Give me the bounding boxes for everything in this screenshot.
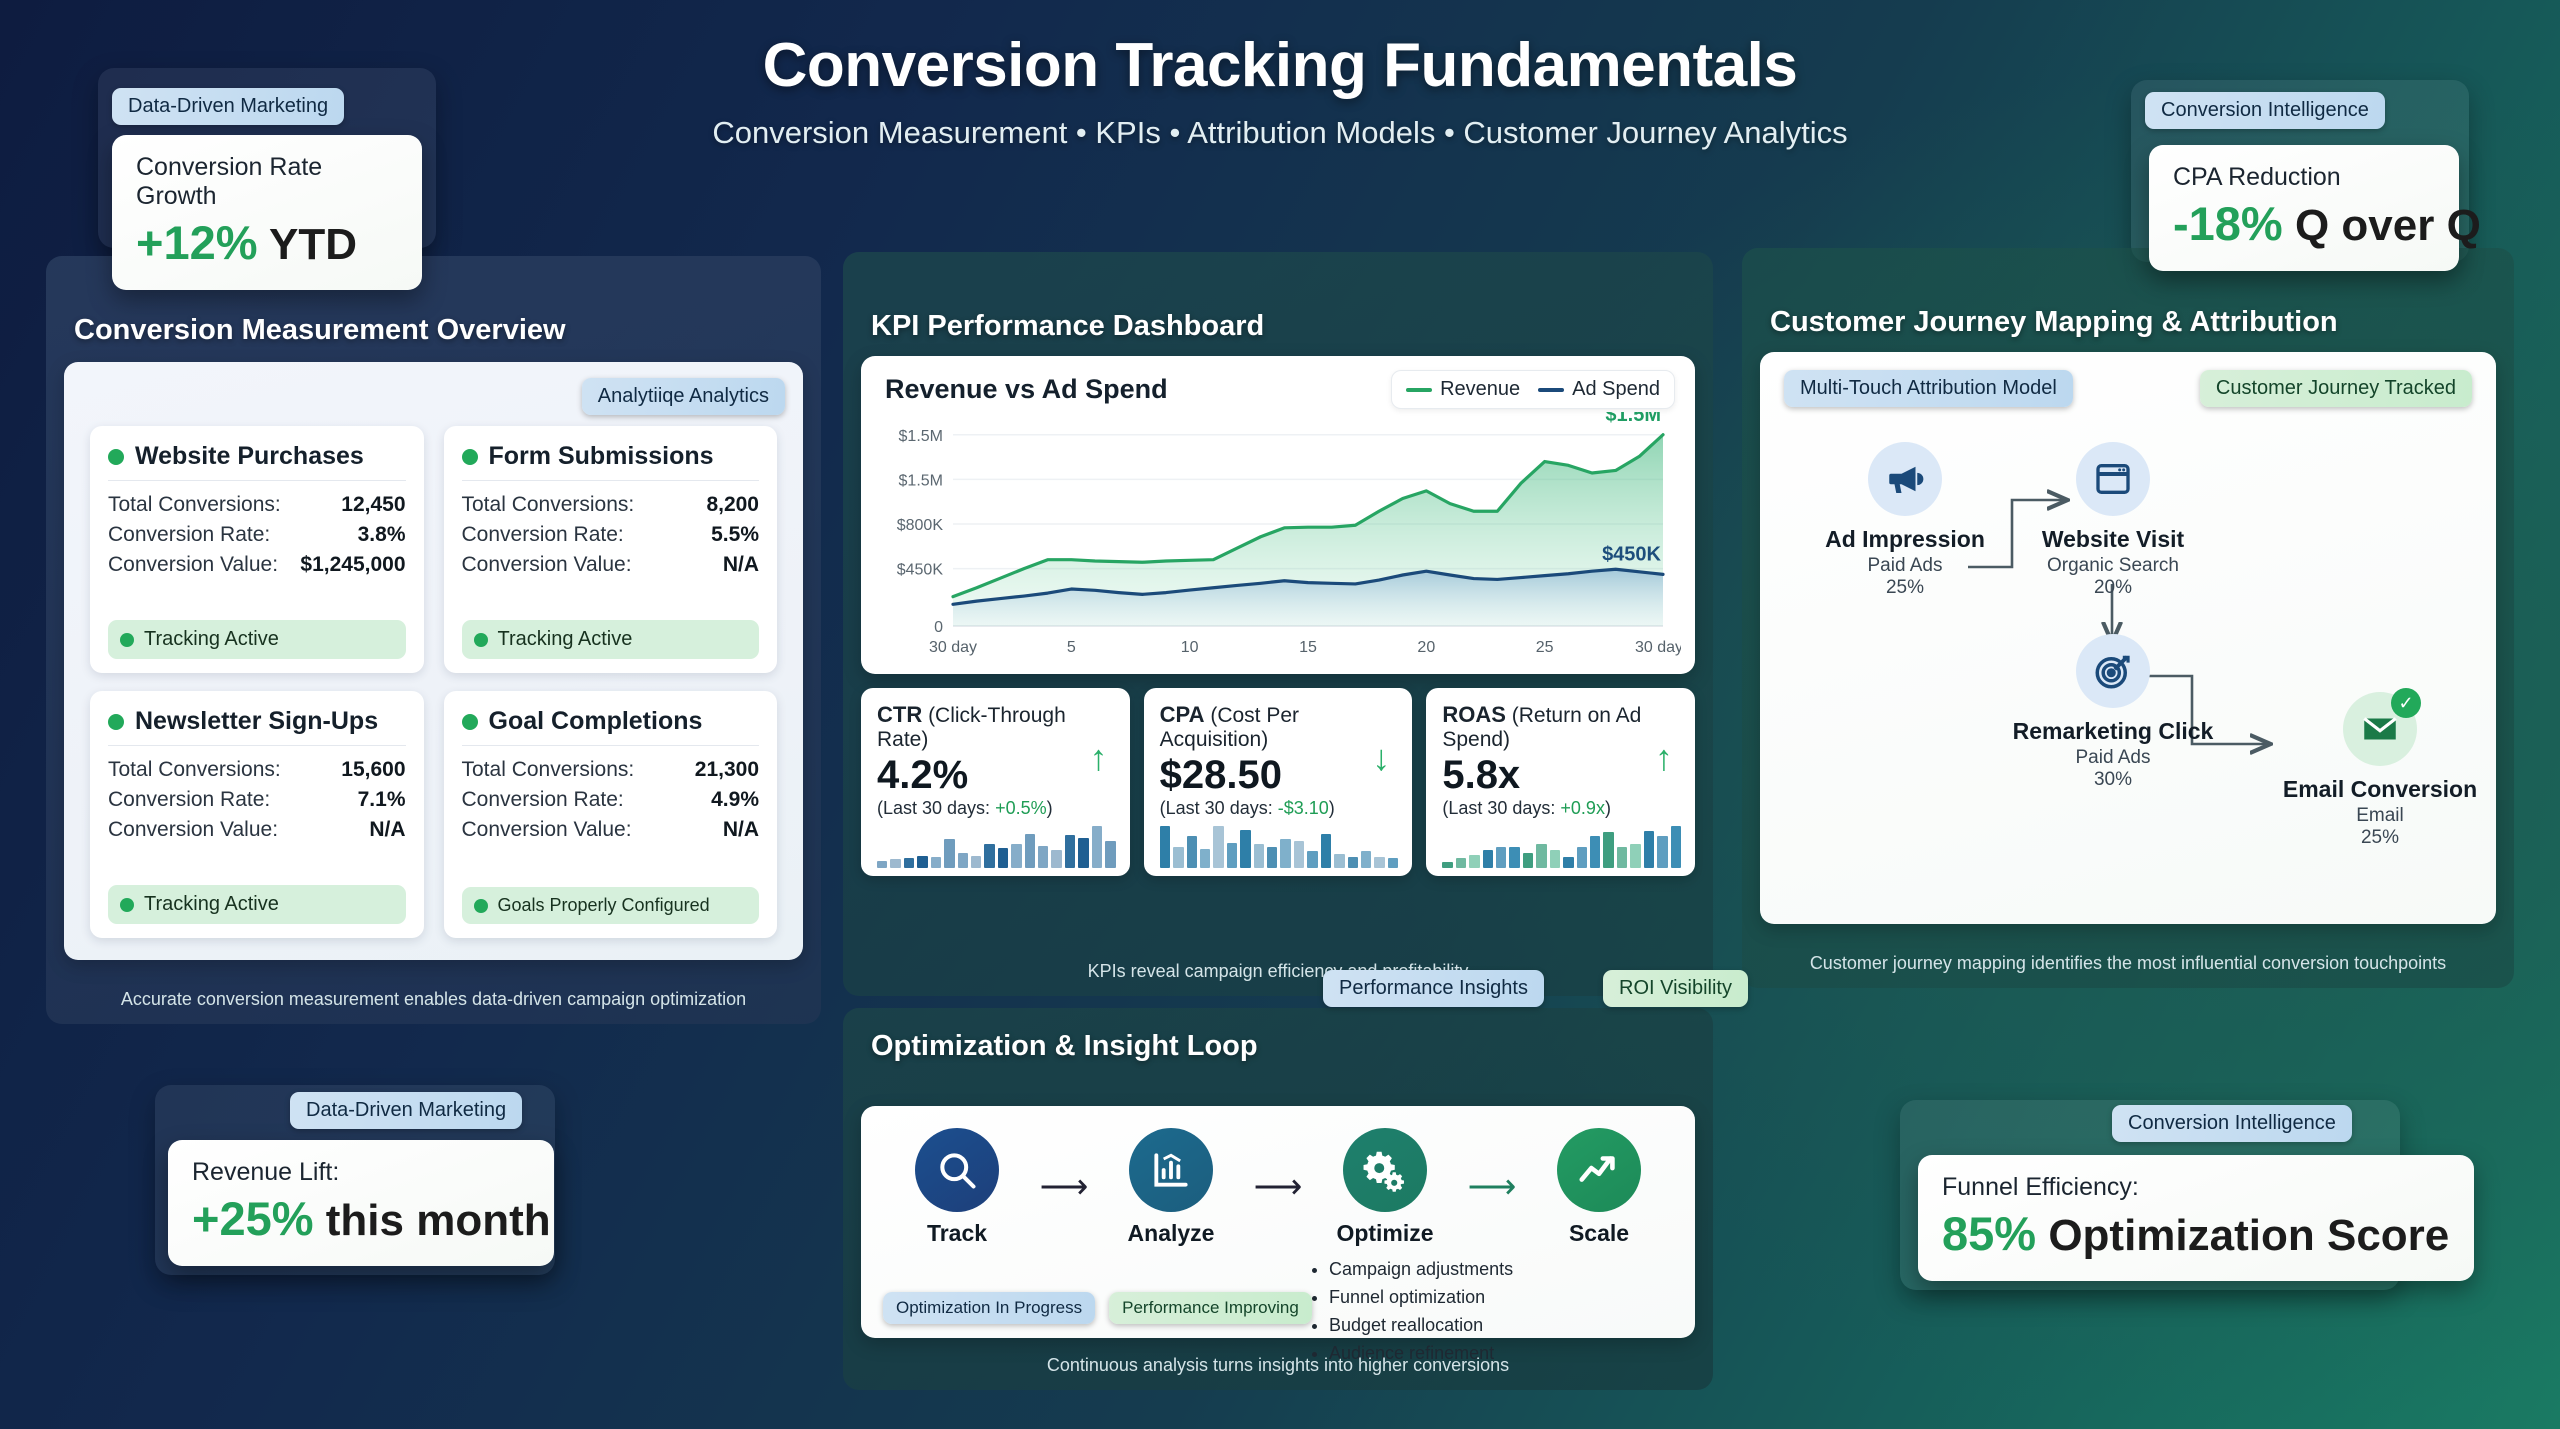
row-label: Total Conversions: [108,758,281,782]
kpi-card: CPA (Cost Per Acquisition)$28.50(Last 30… [1144,688,1413,876]
spark-bar [890,859,900,868]
legend-item-revenue: Revenue [1406,378,1520,401]
journey-node-email-conversion: ✓ Email Conversion Email 25% [2265,692,2495,849]
row-total: Total Conversions:8,200 [462,493,760,517]
svg-text:5: 5 [1067,639,1076,656]
search-icon [915,1128,999,1212]
row-label: Total Conversions: [462,758,635,782]
spark-bar [1657,836,1667,868]
optimization-bullet-list: Campaign adjustmentsFunnel optimizationB… [1311,1256,1513,1368]
panel-footer: KPIs reveal campaign efficiency and prof… [843,961,1713,982]
spark-bar [1105,841,1115,868]
spark-bar [1267,847,1277,868]
badge-value-suffix: Optimization Score [2048,1211,2449,1260]
row-label: Conversion Rate: [462,788,624,812]
panel-footer: Accurate conversion measurement enables … [46,989,821,1010]
arrow-right-icon: ⟶ [1254,1170,1303,1204]
status-dot-icon [462,449,478,465]
journey-node-ad-impression: Ad Impression Paid Ads 25% [1790,442,2020,599]
row-label: Conversion Rate: [108,788,270,812]
svg-text:$450K: $450K [897,562,944,579]
spark-bar [1051,850,1061,868]
svg-text:$1.5M: $1.5M [899,428,943,445]
journey-node-website-visit: Website Visit Organic Search 20% [1998,442,2228,599]
row-value: 8,200 [706,493,759,517]
node-share: 25% [2265,827,2495,849]
status-label: Tracking Active [144,628,279,651]
loop-step-label: Track [891,1220,1023,1247]
svg-text:$800K: $800K [897,517,944,534]
kpi-delta: (Last 30 days: -$3.10) [1160,798,1397,819]
spark-bar [1025,834,1035,868]
status-dot-icon [474,633,488,647]
node-title: Email Conversion [2265,776,2495,803]
trend-arrow-icon: ↓ [1372,740,1390,776]
node-share: 25% [1790,577,2020,599]
card-header: Website Purchases [108,442,406,471]
loop-step-analyze: Analyze [1105,1128,1237,1247]
badge-chip-data-driven-marketing: Data-Driven Marketing [290,1092,522,1129]
row-label: Conversion Rate: [108,523,270,547]
trend-arrow-icon: ↑ [1090,740,1108,776]
chip-multi-touch-attribution: Multi-Touch Attribution Model [1784,370,2073,407]
row-value: 21,300 [695,758,759,782]
conversion-card: Website PurchasesTotal Conversions:12,45… [90,426,424,673]
arrow-right-icon: ⟶ [1040,1170,1089,1204]
spark-bar [1496,847,1506,868]
status-label: Tracking Active [144,893,279,916]
kpi-value: 5.8x [1442,754,1679,796]
kpi-performance-panel: KPI Performance Dashboard Revenue vs Ad … [843,252,1713,996]
badge-value: -18% Q over Q [2173,196,2435,251]
loop-step-label: Analyze [1105,1220,1237,1247]
node-title: Ad Impression [1790,526,2020,553]
kpi-name: CPA (Cost Per Acquisition) [1160,702,1397,752]
badge-stat-box: Revenue Lift: +25% this month [168,1140,554,1266]
badge-value-number: +12% [136,216,258,269]
spark-bar [1644,831,1654,868]
card-title: Goal Completions [489,707,703,736]
badge-value-number: -18% [2173,197,2283,250]
trending-up-icon [1557,1128,1641,1212]
badge-stat-box: Conversion Rate Growth +12% YTD [112,135,422,290]
legend-label-revenue: Revenue [1440,378,1520,401]
conversion-card: Newsletter Sign-UpsTotal Conversions:15,… [90,691,424,938]
spark-bar [1483,850,1493,868]
status-dot-icon [108,714,124,730]
legend-item-ad-spend: Ad Spend [1538,378,1660,401]
spark-bar [984,844,994,868]
divider [462,480,760,481]
spark-bar [998,848,1008,868]
badge-value: +12% YTD [136,215,398,270]
node-share: 20% [1998,577,2228,599]
spark-bar [904,858,914,868]
status-dot-icon [120,898,134,912]
row-rate: Conversion Rate:3.8% [108,523,406,547]
row-label: Conversion Value: [462,818,632,842]
row-value-amount: Conversion Value:$1,245,000 [108,553,406,577]
panel-footer: Continuous analysis turns insights into … [843,1355,1713,1376]
kpi-sparkline [877,824,1116,868]
loop-steps: Track ⟶ Analyze ⟶ Optimize ⟶ [891,1124,1665,1250]
spark-bar [1509,847,1519,868]
node-source: Paid Ads [1998,747,2228,769]
infographic-root: Conversion Tracking Fundamentals Convers… [0,0,2560,1429]
spark-bar [1442,862,1452,868]
row-label: Conversion Value: [108,553,278,577]
trend-arrow-icon: ↑ [1655,740,1673,776]
spark-bar [1078,838,1088,868]
spark-bar [1361,851,1371,868]
spark-bar [1388,858,1398,868]
spark-bar [1523,853,1533,868]
spark-bar [1550,850,1560,868]
chip-performance-insights: Performance Insights [1323,970,1544,1007]
badge-label: Revenue Lift: [192,1158,530,1187]
spark-bar [1617,847,1627,868]
row-label: Conversion Value: [462,553,632,577]
bar-chart-icon [1129,1128,1213,1212]
node-source: Paid Ads [1790,555,2020,577]
panel-title: KPI Performance Dashboard [871,310,1264,343]
spark-bar [1563,857,1573,868]
svg-text:25: 25 [1536,639,1554,656]
journey-node-remarketing-click: Remarketing Click Paid Ads 30% [1998,634,2228,791]
browser-icon [2076,442,2150,516]
row-rate: Conversion Rate:7.1% [108,788,406,812]
spark-bar [931,857,941,868]
row-label: Conversion Value: [108,818,278,842]
panel-footer: Customer journey mapping identifies the … [1742,953,2514,974]
row-value-amount: Conversion Value:N/A [108,818,406,842]
svg-text:$1.5M: $1.5M [899,472,943,489]
badge-label: CPA Reduction [2173,163,2435,192]
card-header: Newsletter Sign-Ups [108,707,406,736]
spark-bar [1187,836,1197,868]
row-value: 15,600 [341,758,405,782]
status-badge: Tracking Active [108,885,406,924]
node-title: Website Visit [1998,526,2228,553]
kpi-name: CTR (Click-Through Rate) [877,702,1114,752]
badge-value-number: +25% [192,1192,314,1245]
megaphone-icon [1868,442,1942,516]
bullet-item: Budget reallocation [1329,1312,1513,1340]
row-total: Total Conversions:15,600 [108,758,406,782]
spark-bar [1348,857,1358,868]
spark-bar [1603,832,1613,868]
row-value: 4.9% [711,788,759,812]
row-rate: Conversion Rate:5.5% [462,523,760,547]
spark-bar [1294,841,1304,868]
chip-customer-journey-tracked: Customer Journey Tracked [2200,370,2472,407]
badge-value: +25% this month [192,1191,530,1246]
status-label: Tracking Active [498,628,633,651]
row-total: Total Conversions:21,300 [462,758,760,782]
loop-step-label: Scale [1533,1220,1665,1247]
badge-value-suffix: YTD [269,220,357,269]
arrow-right-icon: ⟶ [1468,1170,1517,1204]
optimization-loop-panel: Optimization & Insight Loop Track ⟶ Anal… [843,1008,1713,1390]
spark-bar [1334,854,1344,868]
spark-bar [1577,847,1587,868]
spark-bar [1469,855,1479,868]
status-dot-icon [108,449,124,465]
chart-legend: Revenue Ad Spend [1391,370,1675,409]
row-value: N/A [723,818,759,842]
node-source: Organic Search [1998,555,2228,577]
node-title: Remarketing Click [1998,718,2228,745]
spark-bar [1227,843,1237,868]
conversion-card: Goal CompletionsTotal Conversions:21,300… [444,691,778,938]
svg-text:30 day: 30 day [929,639,977,656]
kpi-delta: (Last 30 days: +0.5%) [877,798,1114,819]
chart-title: Revenue vs Ad Spend [885,374,1168,405]
row-rate: Conversion Rate:4.9% [462,788,760,812]
card-title: Website Purchases [135,442,364,471]
status-badge: Tracking Active [462,620,760,659]
gears-icon [1343,1128,1427,1212]
spark-bar [1065,835,1075,868]
loop-step-scale: Scale [1533,1128,1665,1247]
chip-performance-improving: Performance Improving [1109,1292,1312,1324]
target-icon [2076,634,2150,708]
spark-bar [877,861,887,868]
row-value: N/A [369,818,405,842]
badge-label: Funnel Efficiency: [1942,1173,2450,1202]
card-title: Newsletter Sign-Ups [135,707,378,736]
row-label: Total Conversions: [108,493,281,517]
spark-bar [1307,851,1317,868]
spark-bar [1038,846,1048,868]
spark-bar [1011,844,1021,868]
card-header: Form Submissions [462,442,760,471]
row-value-amount: Conversion Value:N/A [462,553,760,577]
conversion-card-grid: Website PurchasesTotal Conversions:12,45… [90,426,777,938]
svg-text:$450K: $450K [1602,543,1661,565]
spark-bar [1321,834,1331,868]
spark-bar [1280,839,1290,868]
spark-bar [1173,847,1183,868]
spark-bar [958,853,968,868]
divider [462,745,760,746]
spark-bar [1254,844,1264,868]
status-badge: Goals Properly Configured [462,887,760,924]
row-value: 7.1% [358,788,406,812]
legend-swatch-ad-spend [1538,388,1564,392]
badge-chip-data-driven-marketing: Data-Driven Marketing [112,88,344,125]
chip-optimization-in-progress: Optimization In Progress [883,1292,1095,1324]
revenue-vs-ad-spend-chart-card: Revenue vs Ad Spend Revenue Ad Spend 0$4… [861,356,1695,674]
badge-chip-conversion-intelligence: Conversion Intelligence [2145,92,2385,129]
spark-bar [1213,826,1223,868]
row-label: Total Conversions: [462,493,635,517]
brand-chip-analytics: Analytiiqe Analytics [582,378,785,415]
optimization-chips: Optimization In Progress Performance Imp… [883,1292,1312,1324]
status-badge: Tracking Active [108,620,406,659]
kpi-delta: (Last 30 days: +0.9x) [1442,798,1679,819]
journey-map-container: Multi-Touch Attribution Model Customer J… [1760,352,2496,924]
svg-text:15: 15 [1299,639,1317,656]
row-total: Total Conversions:12,450 [108,493,406,517]
spark-bar [1671,826,1681,868]
row-value: $1,245,000 [300,553,405,577]
status-dot-icon [120,633,134,647]
spark-bar [1590,836,1600,868]
spark-bar [1200,849,1210,868]
card-title: Form Submissions [489,442,714,471]
bullet-item: Campaign adjustments [1329,1256,1513,1284]
spark-bar [1160,826,1170,868]
email-icon: ✓ [2343,692,2417,766]
spark-bar [944,839,954,868]
row-value: 3.8% [358,523,406,547]
status-label: Goals Properly Configured [498,895,710,916]
svg-text:20: 20 [1417,639,1435,656]
row-value: 12,450 [341,493,405,517]
row-value-amount: Conversion Value:N/A [462,818,760,842]
spark-bar [1536,844,1546,868]
badge-value-suffix: Q over Q [2295,201,2481,250]
panel-title: Optimization & Insight Loop [871,1030,1258,1063]
row-value: N/A [723,553,759,577]
optimization-loop-container: Track ⟶ Analyze ⟶ Optimize ⟶ [861,1106,1695,1338]
legend-label-ad-spend: Ad Spend [1572,378,1660,401]
kpi-name: ROAS (Return on Ad Spend) [1442,702,1679,752]
card-header: Goal Completions [462,707,760,736]
chart-plot-area: 0$450K$800K$1.5M$1.5M$1.5M$450K30 day510… [875,412,1681,666]
svg-text:$1.5M: $1.5M [1605,412,1661,426]
node-source: Email [2265,805,2495,827]
conversion-card: Form SubmissionsTotal Conversions:8,200C… [444,426,778,673]
spark-bar [1630,844,1640,868]
loop-step-label: Optimize [1319,1220,1451,1247]
spark-bar [1092,826,1102,868]
svg-text:0: 0 [934,619,943,636]
spark-bar [1240,830,1250,868]
status-dot-icon [462,714,478,730]
panel-title: Conversion Measurement Overview [74,314,566,347]
kpi-metric-row: CTR (Click-Through Rate)4.2%(Last 30 day… [861,688,1695,876]
spark-bar [1456,858,1466,868]
badge-chip-conversion-intelligence: Conversion Intelligence [2112,1105,2352,1142]
chart-svg: 0$450K$800K$1.5M$1.5M$1.5M$450K30 day510… [875,412,1681,666]
conversion-cards-container: Analytiiqe Analytics Website PurchasesTo… [64,362,803,960]
customer-journey-panel: Customer Journey Mapping & Attribution M… [1742,248,2514,988]
check-icon: ✓ [2391,688,2421,718]
svg-text:30 days: 30 days [1635,639,1681,656]
row-value: 5.5% [711,523,759,547]
loop-step-optimize: Optimize [1319,1128,1451,1247]
kpi-sparkline [1442,824,1681,868]
divider [108,745,406,746]
node-share: 30% [1998,769,2228,791]
chip-roi-visibility: ROI Visibility [1603,970,1748,1007]
conversion-measurement-panel: Conversion Measurement Overview Analytii… [46,256,821,1024]
spark-bar [1374,857,1384,868]
legend-swatch-revenue [1406,388,1432,392]
badge-stat-box: CPA Reduction -18% Q over Q [2149,145,2459,271]
badge-label: Conversion Rate Growth [136,153,398,211]
kpi-value: $28.50 [1160,754,1397,796]
badge-value: 85% Optimization Score [1942,1206,2450,1261]
bullet-item: Funnel optimization [1329,1284,1513,1312]
status-dot-icon [474,899,488,913]
spark-bar [971,856,981,868]
badge-stat-box: Funnel Efficiency: 85% Optimization Scor… [1918,1155,2474,1281]
badge-value-suffix: this month [326,1196,551,1245]
svg-text:10: 10 [1181,639,1199,656]
kpi-card: ROAS (Return on Ad Spend)5.8x(Last 30 da… [1426,688,1695,876]
panel-title: Customer Journey Mapping & Attribution [1770,306,2338,339]
row-label: Conversion Rate: [462,523,624,547]
loop-step-track: Track [891,1128,1023,1247]
badge-value-number: 85% [1942,1207,2036,1260]
kpi-sparkline [1160,824,1399,868]
kpi-card: CTR (Click-Through Rate)4.2%(Last 30 day… [861,688,1130,876]
spark-bar [917,856,927,868]
kpi-value: 4.2% [877,754,1114,796]
divider [108,480,406,481]
